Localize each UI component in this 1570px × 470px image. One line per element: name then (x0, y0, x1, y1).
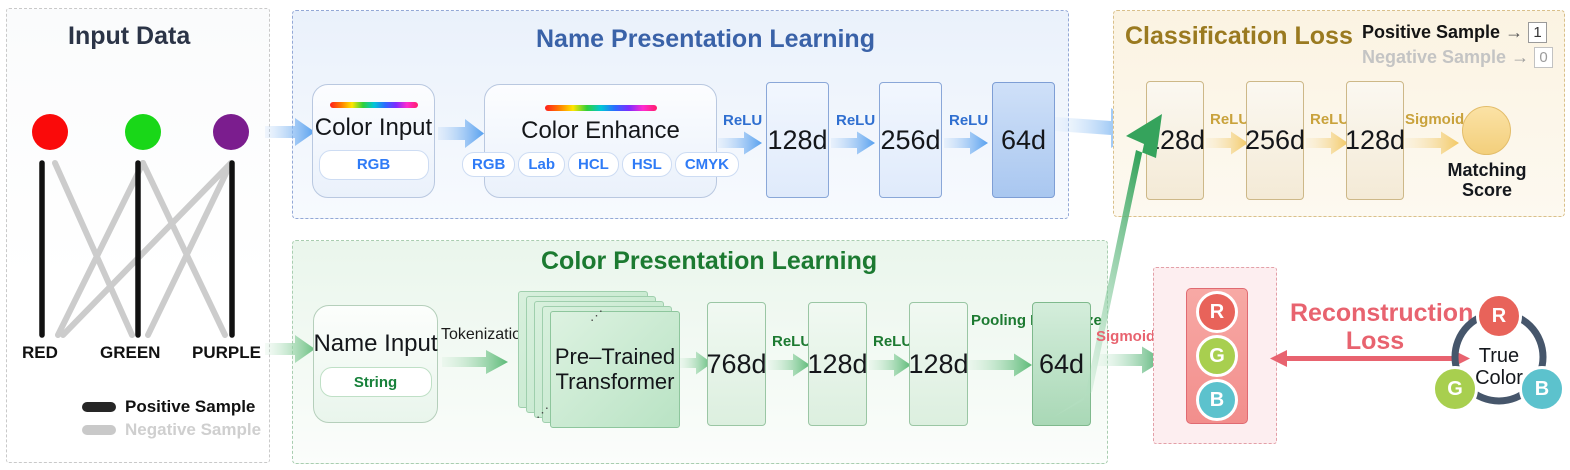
arrow-cls-256d-to-128d (1306, 130, 1350, 156)
classification-loss-title: Classification Loss (1125, 22, 1353, 51)
op-label-relu-color-2: ReLU (873, 334, 912, 350)
color-spectrum-bar (545, 105, 657, 111)
color-input-label: Color Input (315, 115, 432, 140)
negative-sample-label: Negative Sample (125, 420, 261, 440)
color-enhance-label: Color Enhance (521, 118, 680, 143)
name-layer-128d: 128d (766, 82, 829, 198)
transformer-card[interactable]: Pre–Trained Transformer (550, 311, 680, 428)
classification-layer-256d: 256d (1246, 81, 1304, 200)
classification-legend-positive: Positive Sample → 1 (1362, 20, 1553, 45)
color-enhance-card[interactable]: Color Enhance RGB Lab HCL HSL CMYK (484, 84, 717, 198)
classification-legend: Positive Sample → 1 Negative Sample → 0 (1362, 20, 1553, 70)
color-enhance-tag-lab[interactable]: Lab (518, 152, 565, 177)
input-axis-label-red: RED (22, 343, 58, 363)
name-input-tag-string[interactable]: String (320, 367, 432, 397)
op-label-tokenization: Tokenization (441, 327, 530, 344)
name-input-card[interactable]: Name Input String (313, 305, 438, 423)
matching-score-label: Matching Score (1443, 160, 1531, 200)
op-label-relu-color-1: ReLU (772, 334, 811, 350)
arrow-768d-to-128d (768, 352, 812, 378)
color-enhance-tag-rgb[interactable]: RGB (462, 152, 515, 177)
op-label-relu-cls-1: ReLU (1210, 112, 1249, 128)
legend-negative-arrow: → (1511, 47, 1529, 68)
color-enhance-tag-hcl[interactable]: HCL (568, 152, 619, 177)
name-layer-256d: 256d (879, 82, 942, 198)
op-label-relu-name-3: ReLU (949, 113, 988, 129)
classification-layer-128d-2: 128d (1346, 81, 1404, 200)
legend-negative-value: 0 (1534, 47, 1553, 68)
arrow-256d-to-64d (944, 130, 990, 156)
transformer-stack-dots-bottom: ⋰ (536, 405, 550, 421)
op-label-relu-name-2: ReLU (836, 113, 875, 129)
arrow-cls-128d-to-256d (1206, 130, 1250, 156)
color-enhance-tag-hsl[interactable]: HSL (622, 152, 672, 177)
arrow-to-name-input (265, 332, 317, 368)
color-spectrum-bar (330, 102, 418, 108)
op-label-sigmoid-recon: Sigmoid (1096, 329, 1155, 345)
color-layer-768d: 768d (707, 302, 766, 426)
positive-sample-swatch (82, 402, 116, 412)
predicted-channel-b: B (1196, 379, 1238, 421)
arrow-to-color-input (265, 115, 317, 151)
color-enhance-tag-row: RGB Lab HCL HSL CMYK (462, 152, 739, 177)
op-label-sigmoid-cls: Sigmoid (1405, 112, 1464, 128)
name-presentation-title: Name Presentation Learning (536, 25, 875, 54)
color-input-tag-rgb[interactable]: RGB (319, 150, 429, 180)
arrow-name-input-to-transformer (442, 348, 510, 376)
diagram-canvas: Input Data RED GREEN PURPLE Positive Sam… (0, 0, 1570, 470)
legend-positive-label: Positive Sample (1362, 22, 1500, 43)
matching-score-indicator (1462, 106, 1511, 155)
arrow-128d-to-128d (869, 352, 913, 378)
classification-legend-negative: Negative Sample → 0 (1362, 45, 1553, 70)
op-label-relu-name-1: ReLU (723, 113, 762, 129)
input-legend-negative: Negative Sample (82, 420, 261, 440)
op-label-relu-cls-2: ReLU (1310, 112, 1349, 128)
input-axis-label-purple: PURPLE (192, 343, 261, 363)
color-layer-128d-2: 128d (909, 302, 968, 426)
input-legend-positive: Positive Sample (82, 397, 255, 417)
predicted-rgb-card: R G B (1186, 288, 1248, 424)
negative-sample-swatch (82, 425, 116, 435)
arrow-cls-to-matching-score (1405, 130, 1461, 156)
true-color-channel-r: R (1476, 293, 1522, 339)
predicted-channel-g: G (1196, 335, 1238, 377)
color-presentation-title: Color Presentation Learning (541, 247, 877, 276)
arrow-color-input-to-enhance (438, 117, 486, 151)
color-input-card[interactable]: Color Input RGB (312, 84, 435, 198)
arrow-enhance-to-128d (718, 130, 764, 156)
legend-positive-value: 1 (1528, 22, 1547, 43)
true-color-label: True Color (1462, 345, 1536, 390)
input-axis-label-green: GREEN (100, 343, 160, 363)
positive-sample-label: Positive Sample (125, 397, 255, 417)
color-layer-128d-1: 128d (808, 302, 867, 426)
legend-positive-arrow: → (1505, 22, 1523, 43)
legend-negative-label: Negative Sample (1362, 47, 1506, 68)
name-input-label: Name Input (313, 331, 437, 356)
transformer-label: Pre–Trained Transformer (555, 345, 675, 394)
transformer-stack-dots-top: ⋰ (590, 308, 604, 324)
arrow-128d-to-64d (968, 352, 1034, 378)
predicted-channel-r: R (1196, 291, 1238, 333)
arrow-128d-to-256d (831, 130, 877, 156)
